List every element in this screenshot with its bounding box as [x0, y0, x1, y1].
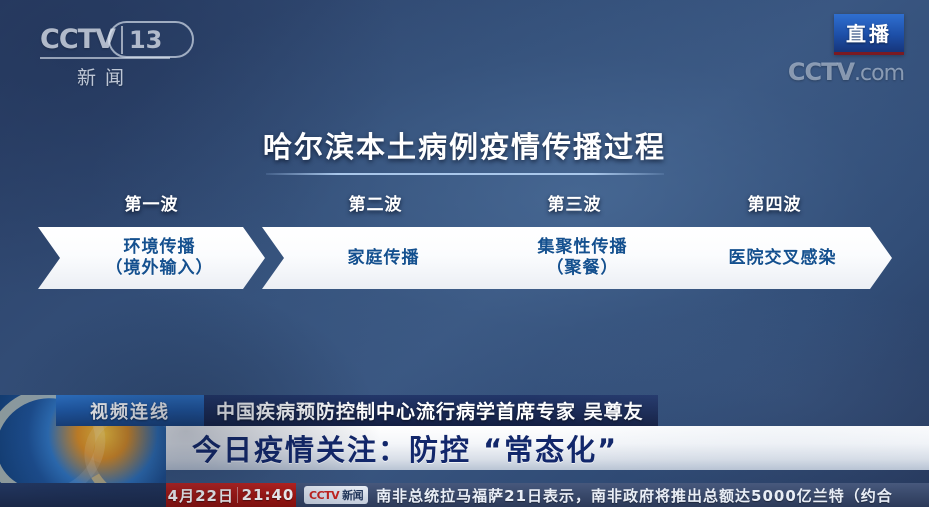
news-ticker: 4月22日 21:40 CCTV 新闻 南非总统拉马福萨21日表示，南非政府将推… — [0, 483, 929, 507]
video-link-tag: 视频连线 — [56, 395, 204, 426]
channel-logo-subtitle: 新闻 — [40, 63, 170, 90]
flow-stage-4-label: 第四波 — [657, 192, 892, 218]
flow-stage-3-chevron: 集聚性传播 （聚餐） — [461, 227, 688, 289]
lower-third-headline-row: 今日疫情关注：防控 “常态化” — [166, 426, 929, 470]
lower-third-top-row: 视频连线 中国疾病预防控制中心流行病学首席专家 吴尊友 — [56, 395, 658, 426]
ticker-body: CCTV 新闻 南非总统拉马福萨21日表示，南非政府将推出总额达5000亿兰特（… — [296, 483, 929, 507]
transmission-flow-diagram: 第一波 环境传播 （境外输入） 第二波 家庭传播 第三波 集聚性传播 — [0, 192, 929, 302]
flow-stage-3-text: 集聚性传播 （聚餐） — [522, 237, 628, 279]
graphic-title-block: 哈尔滨本土病例疫情传播过程 — [0, 124, 929, 175]
cctv-com-watermark: CCTV.com — [788, 58, 904, 86]
flow-stage-3-line1: 集聚性传播 — [538, 237, 628, 257]
watermark-suffix: .com — [854, 61, 904, 86]
lower-third: 视频连线 中国疾病预防控制中心流行病学首席专家 吴尊友 今日疫情关注：防控 “常… — [0, 395, 929, 483]
broadcast-screen: CCTV 13 新闻 直播 CCTV.com 哈尔滨本土病例疫情传播过程 第一波… — [0, 0, 929, 507]
flow-stage-2-line1: 家庭传播 — [348, 248, 420, 268]
ticker-logo-brand: CCTV — [309, 489, 339, 502]
flow-stage-1: 第一波 环境传播 （境外输入） — [38, 192, 265, 302]
flow-stage-2-text: 家庭传播 — [332, 248, 420, 269]
flow-stage-1-chevron: 环境传播 （境外输入） — [38, 227, 265, 289]
ticker-left-pad — [0, 483, 166, 507]
cctv13-channel-logo: CCTV 13 新闻 — [40, 24, 220, 94]
ticker-date: 4月22日 — [168, 485, 234, 506]
flow-stage-3: 第三波 集聚性传播 （聚餐） — [461, 192, 688, 302]
flow-stage-1-line1: 环境传播 — [124, 237, 196, 257]
flow-stage-3-label: 第三波 — [461, 192, 688, 218]
ticker-separator — [237, 487, 238, 503]
headline: 今日疫情关注：防控 “常态化” — [192, 427, 618, 469]
flow-stage-1-line2: （境外输入） — [106, 258, 214, 279]
cctv-wordmark: CCTV — [40, 24, 115, 55]
graphic-title-underline — [266, 173, 664, 175]
graphic-title: 哈尔滨本土病例疫情传播过程 — [263, 124, 666, 166]
flow-stage-2: 第二波 家庭传播 — [262, 192, 489, 302]
flow-stage-2-chevron: 家庭传播 — [262, 227, 489, 289]
flow-stage-1-label: 第一波 — [38, 192, 265, 218]
flow-stage-4-text: 医院交叉感染 — [713, 248, 837, 269]
cctv-news-badge-icon: CCTV 新闻 — [304, 486, 368, 504]
flow-stage-3-line2: （聚餐） — [538, 258, 628, 279]
channel-number: 13 — [121, 26, 162, 54]
watermark-brand: CCTV — [788, 58, 854, 86]
flow-stage-1-text: 环境传播 （境外输入） — [90, 237, 214, 279]
guest-title: 中国疾病预防控制中心流行病学首席专家 吴尊友 — [204, 395, 658, 426]
ticker-text: 南非总统拉马福萨21日表示，南非政府将推出总额达5000亿兰特（约合 — [376, 485, 893, 506]
flow-stage-4: 第四波 医院交叉感染 — [657, 192, 892, 302]
channel-logo-row: CCTV 13 — [40, 24, 220, 55]
ticker-datetime: 4月22日 21:40 — [166, 483, 296, 507]
flow-stage-4-chevron: 医院交叉感染 — [657, 227, 892, 289]
flow-stage-4-line1: 医院交叉感染 — [729, 248, 837, 268]
live-badge: 直播 — [834, 14, 904, 55]
ticker-time: 21:40 — [242, 486, 295, 504]
ticker-logo-sub: 新闻 — [342, 487, 363, 503]
flow-stage-2-label: 第二波 — [262, 192, 489, 218]
channel-logo-underline — [40, 57, 170, 59]
